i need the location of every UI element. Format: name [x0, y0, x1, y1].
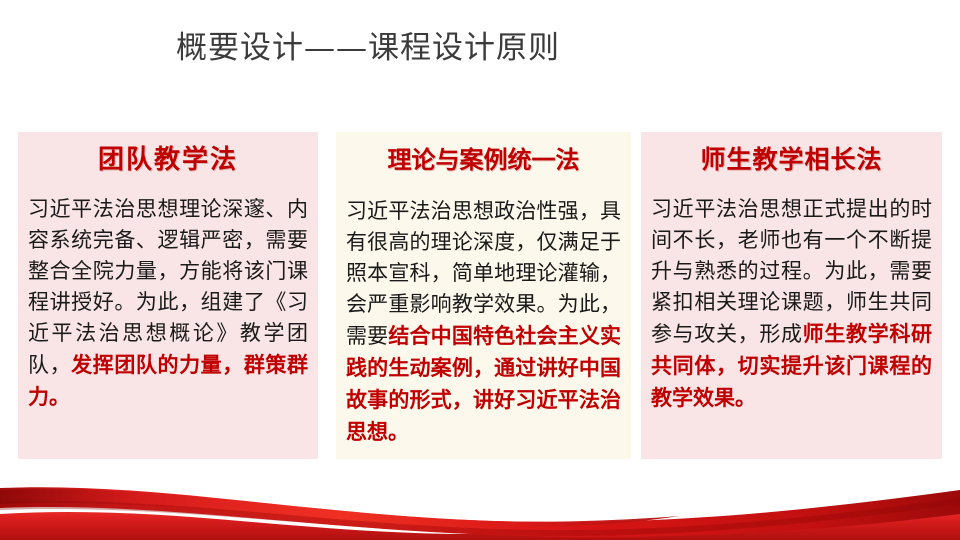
card-heading: 团队教学法 [28, 138, 308, 182]
principle-card-team-teaching[interactable]: 团队教学法 习近平法治思想理论深邃、内容系统完备、逻辑严密，需要整合全院力量，方… [18, 132, 318, 459]
card-body-emphasis: 结合中国特色社会主义实践的生动案例，通过讲好中国故事的形式，讲好习近平法治思想。 [346, 323, 621, 444]
principle-card-teacher-student-growth[interactable]: 师生教学相长法 习近平法治思想正式提出的时间不长，老师也有一个不断提升与熟悉的过… [641, 132, 942, 459]
card-body: 习近平法治思想正式提出的时间不长，老师也有一个不断提升与熟悉的过程。为此，需要紧… [651, 194, 932, 414]
page-title: 概要设计——课程设计原则 [176, 24, 816, 72]
card-heading: 师生教学相长法 [651, 138, 932, 182]
card-body: 习近平法治思想政治性强，具有很高的理论深度，仅满足于照本宣科，简单地理论灌输，会… [346, 196, 621, 448]
card-body-plain: 习近平法治思想理论深邃、内容系统完备、逻辑严密，需要整合全院力量，方能将该门课程… [28, 197, 308, 377]
principle-card-theory-case-unity[interactable]: 理论与案例统一法 习近平法治思想政治性强，具有很高的理论深度，仅满足于照本宣科，… [336, 132, 631, 459]
card-heading: 理论与案例统一法 [346, 138, 621, 182]
principles-card-group: 团队教学法 习近平法治思想理论深邃、内容系统完备、逻辑严密，需要整合全院力量，方… [0, 132, 960, 460]
ribbon-fold-highlight [0, 489, 680, 528]
card-body: 习近平法治思想理论深邃、内容系统完备、逻辑严密，需要整合全院力量，方能将该门课程… [28, 194, 308, 413]
slide-canvas: 概要设计——课程设计原则 团队教学法 习近平法治思想理论深邃、内容系统完备、逻辑… [0, 0, 960, 540]
ribbon-crease [0, 498, 960, 536]
ribbon-band-lower [0, 498, 960, 540]
red-silk-ribbon-decoration [0, 468, 960, 540]
ribbon-band-main [0, 487, 960, 537]
